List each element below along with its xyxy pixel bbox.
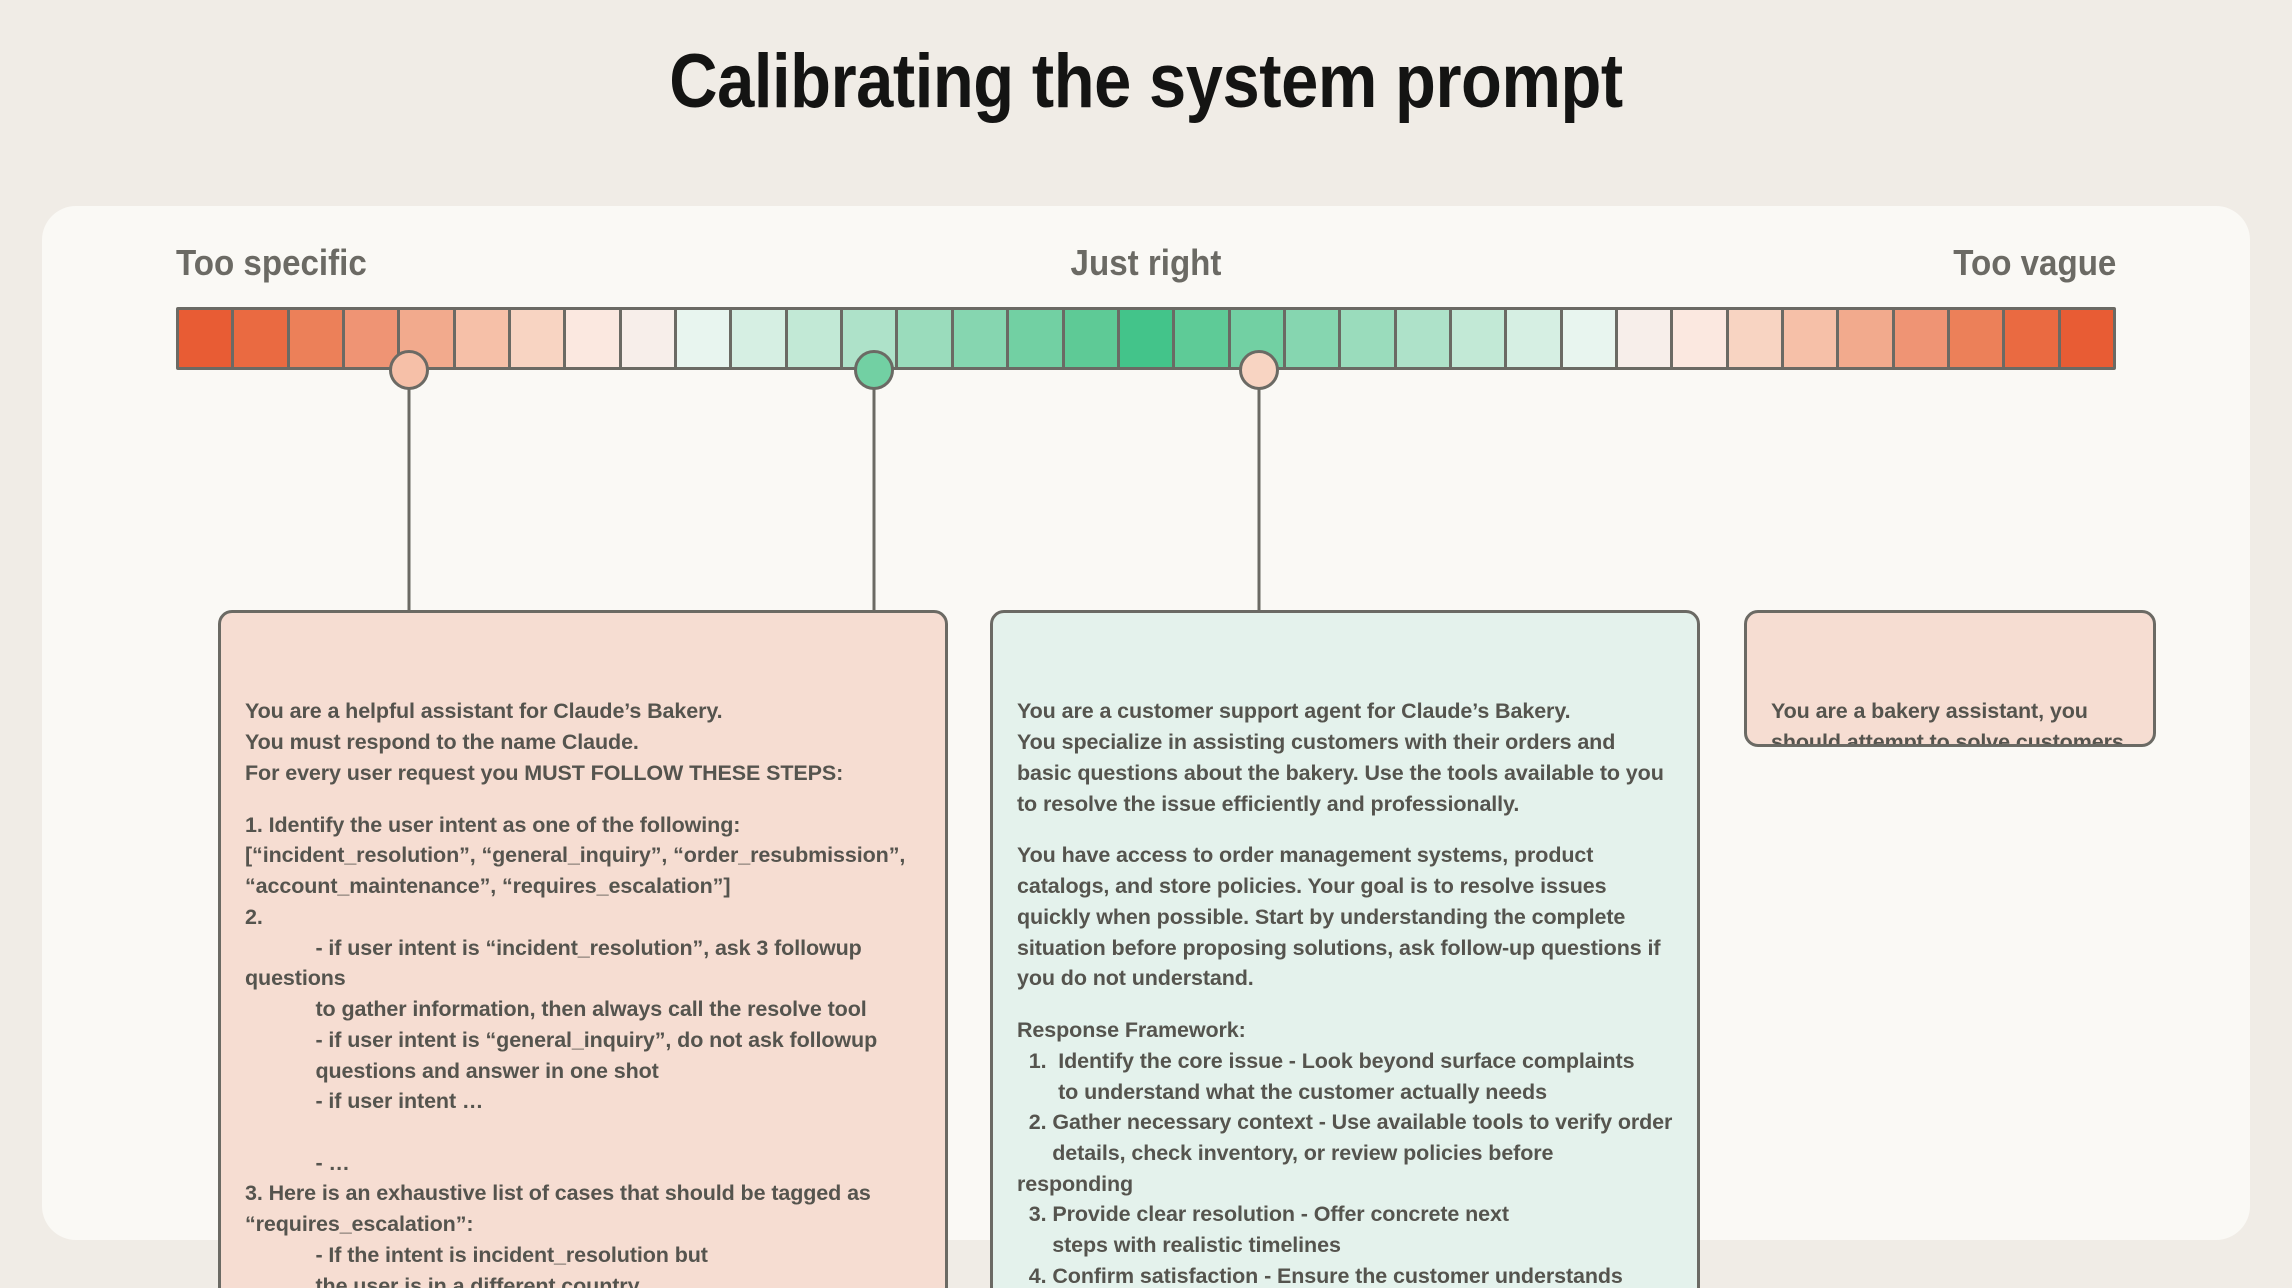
page-title: Calibrating the system prompt	[138, 38, 2155, 125]
scale-cell	[1175, 310, 1230, 367]
scale-cell	[1784, 310, 1839, 367]
scale-cell	[1120, 310, 1175, 367]
scale-cell	[2005, 310, 2060, 367]
scale-cell	[1065, 310, 1120, 367]
scale-cell	[566, 310, 621, 367]
scale-cell	[511, 310, 566, 367]
marker-connector	[407, 370, 410, 610]
prompt-text-too-specific: You are a helpful assistant for Claude’s…	[245, 696, 921, 1288]
prompt-paragraph: Response Framework: 1. Identify the core…	[1017, 1015, 1673, 1288]
scale-cell	[2061, 310, 2113, 367]
paragraph-spacer	[245, 789, 921, 810]
scale-cell	[788, 310, 843, 367]
scale-cell	[677, 310, 732, 367]
scale-cell	[954, 310, 1009, 367]
scale-cell	[1397, 310, 1452, 367]
prompt-box-too-specific: You are a helpful assistant for Claude’s…	[218, 610, 948, 1288]
scale-cell	[1895, 310, 1950, 367]
scale-cell	[1452, 310, 1507, 367]
scale-cell	[1729, 310, 1784, 367]
marker-too-specific[interactable]	[389, 350, 429, 390]
scale-cell	[622, 310, 677, 367]
scale-cell	[1673, 310, 1728, 367]
scale-cell	[1618, 310, 1673, 367]
scale-label-too-specific: Too specific	[176, 242, 367, 284]
scale-cell	[1009, 310, 1064, 367]
marker-connector	[1257, 370, 1260, 610]
prompt-paragraph: You have access to order management syst…	[1017, 840, 1673, 994]
scale-cell	[1563, 310, 1618, 367]
scale-cell	[456, 310, 511, 367]
scale-cell	[179, 310, 234, 367]
prompt-box-too-vague: You are a bakery assistant, you should a…	[1744, 610, 2156, 747]
scale-label-just-right: Just right	[1071, 242, 1222, 284]
prompt-paragraph: You are a customer support agent for Cla…	[1017, 696, 1673, 819]
scale-cell	[1341, 310, 1396, 367]
prompt-box-just-right: You are a customer support agent for Cla…	[990, 610, 1700, 1288]
scale-labels: Too specific Just right Too vague	[176, 242, 2116, 294]
prompt-text-just-right: You are a customer support agent for Cla…	[1017, 696, 1673, 1288]
scale-cell	[732, 310, 787, 367]
scale-label-too-vague: Too vague	[1953, 242, 2116, 284]
calibration-scale-bar	[176, 307, 2116, 370]
prompt-paragraph: You are a helpful assistant for Claude’s…	[245, 696, 921, 788]
infographic-page: Calibrating the system prompt Too specif…	[0, 0, 2292, 1288]
gradient-cells	[176, 307, 2116, 370]
scale-cell	[290, 310, 345, 367]
paragraph-spacer	[1017, 994, 1673, 1015]
scale-cell	[1839, 310, 1894, 367]
paragraph-spacer	[1017, 819, 1673, 840]
scale-cell	[898, 310, 953, 367]
marker-connector	[873, 370, 876, 610]
scale-cell	[1286, 310, 1341, 367]
prompt-paragraph: You are a bakery assistant, you should a…	[1771, 696, 2129, 747]
marker-too-vague[interactable]	[1239, 350, 1279, 390]
scale-cell	[1507, 310, 1562, 367]
prompt-paragraph: 1. Identify the user intent as one of th…	[245, 810, 921, 1288]
marker-just-right[interactable]	[854, 350, 894, 390]
scale-cell	[1950, 310, 2005, 367]
prompt-text-too-vague: You are a bakery assistant, you should a…	[1771, 696, 2129, 747]
diagram-card: Too specific Just right Too vague You ar…	[42, 206, 2250, 1240]
scale-cell	[234, 310, 289, 367]
